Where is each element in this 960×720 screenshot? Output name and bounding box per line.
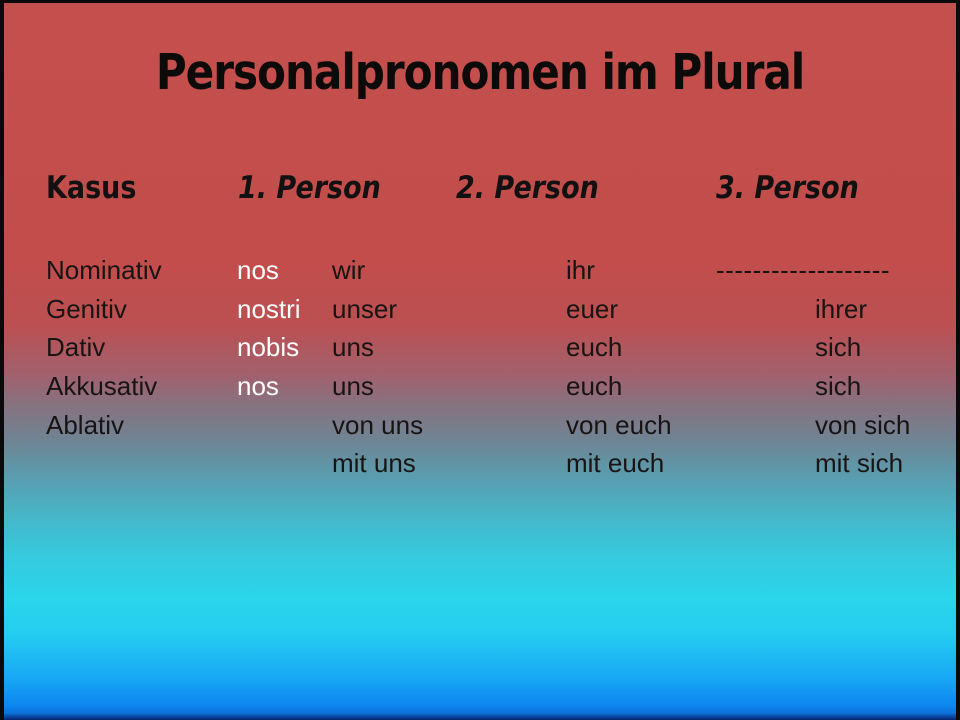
table-cell-person-1: mit uns [332,450,416,476]
presentation-slide: Personalpronomen im Plural Kasus 1. Pers… [0,0,960,720]
table-cell-kasus: Genitiv [46,296,127,322]
column-header-person-1: 1. Person [238,170,381,206]
table-cell-latin: nos [237,373,279,399]
column-header-kasus: Kasus [46,170,136,206]
table-cell-person-1: uns [332,334,374,360]
table-cell-person-2: euer [566,296,618,322]
table-cell-kasus: Ablativ [46,412,124,438]
table-cell-latin: nostri [237,296,301,322]
table-cell-person-3: mit sich [815,450,903,476]
slide-title: Personalpronomen im Plural [67,44,893,101]
table-cell-person-3: ------------------- [716,257,890,283]
column-header-person-2: 2. Person [456,170,599,206]
table-cell-person-3: ihrer [815,296,867,322]
table-cell-kasus: Akkusativ [46,373,157,399]
table-cell-person-2: ihr [566,257,595,283]
table-cell-person-3: sich [815,334,861,360]
table-cell-person-2: mit euch [566,450,664,476]
table-cell-person-1: wir [332,257,365,283]
table-cell-person-1: von uns [332,412,423,438]
table-cell-person-3: sich [815,373,861,399]
table-cell-person-1: unser [332,296,397,322]
column-header-person-3: 3. Person [716,170,859,206]
table-cell-person-1: uns [332,373,374,399]
table-cell-person-3: von sich [815,412,910,438]
slide-content: Personalpronomen im Plural Kasus 1. Pers… [0,0,960,720]
table-cell-person-2: euch [566,373,622,399]
table-cell-latin: nos [237,257,279,283]
table-cell-person-2: von euch [566,412,672,438]
table-cell-latin: nobis [237,334,299,360]
table-cell-kasus: Nominativ [46,257,162,283]
table-cell-person-2: euch [566,334,622,360]
table-cell-kasus: Dativ [46,334,105,360]
